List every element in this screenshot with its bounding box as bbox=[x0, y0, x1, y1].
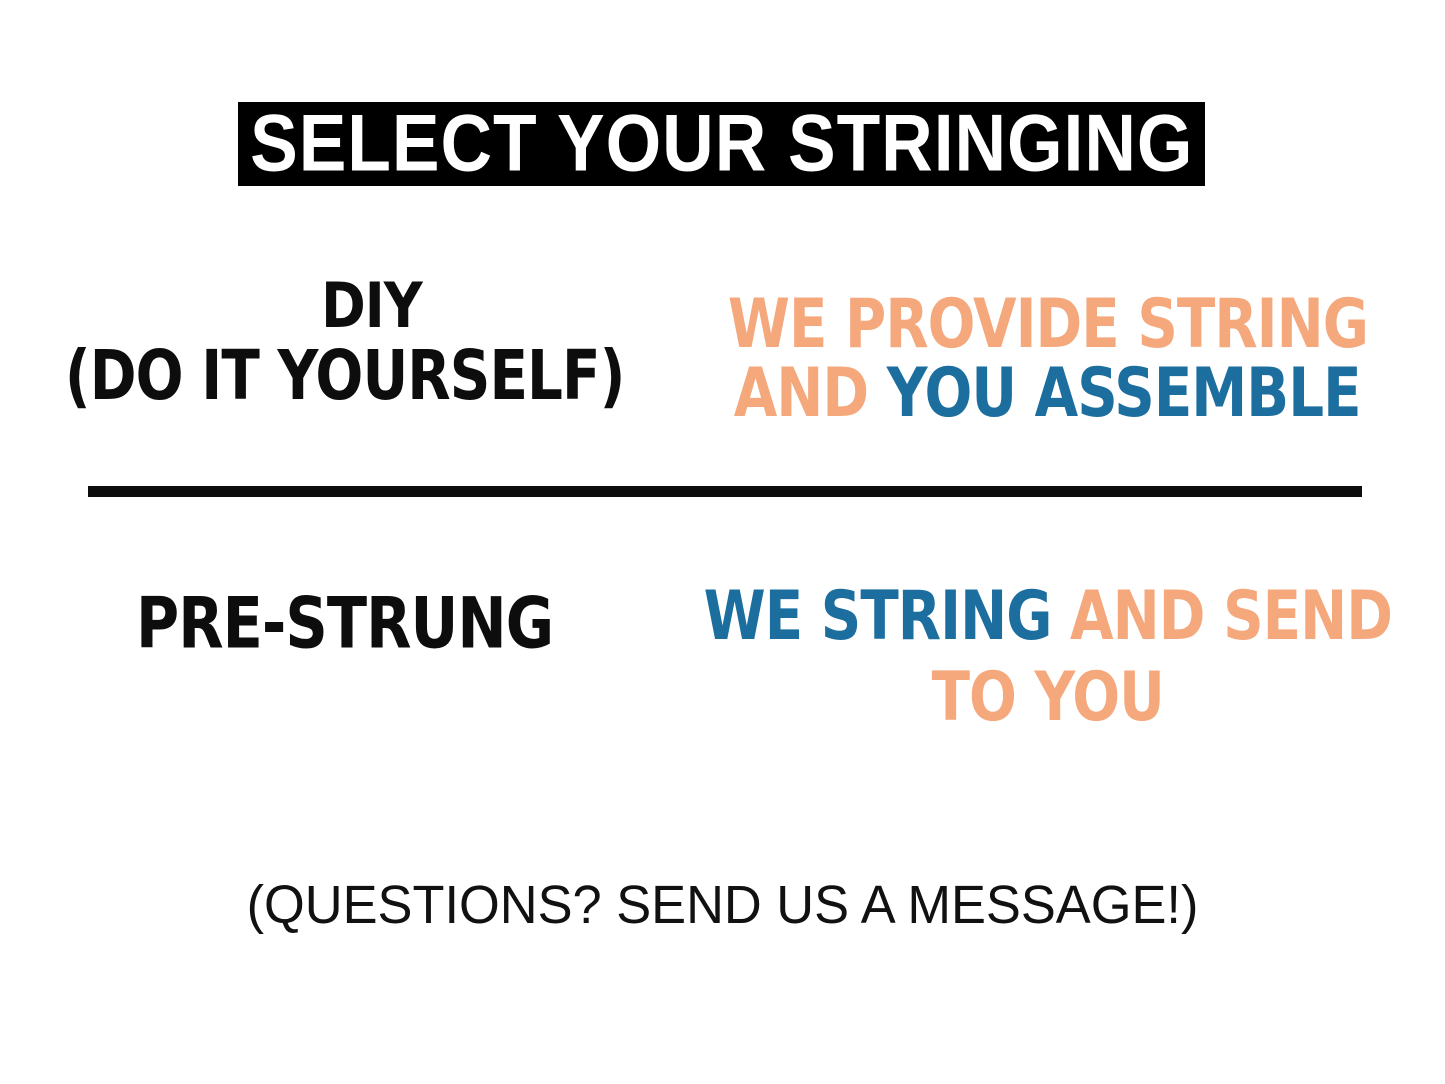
desc-segment: WE PROVIDE STRING bbox=[727, 284, 1367, 363]
option-diy-desc-line-1: WE PROVIDE STRING bbox=[727, 290, 1367, 359]
footer-note: (QUESTIONS? SEND US A MESSAGE!) bbox=[22, 874, 1424, 936]
option-diy-label-abbrev: DIY bbox=[321, 275, 422, 338]
option-prestrung-label: PRE-STRUNG bbox=[136, 588, 553, 659]
option-diy-description: WE PROVIDE STRING AND YOU ASSEMBLE bbox=[690, 282, 1445, 418]
desc-segment: AND bbox=[734, 353, 887, 432]
option-row-prestrung[interactable]: PRE-STRUNG WE STRING AND SEND TO YOU bbox=[0, 562, 1445, 732]
page-title: SELECT YOUR STRINGING bbox=[250, 104, 1193, 185]
option-prestrung-desc-line-1: WE STRING AND SEND bbox=[703, 582, 1391, 651]
desc-segment: WE STRING bbox=[703, 576, 1069, 655]
option-prestrung-description: WE STRING AND SEND TO YOU bbox=[690, 562, 1445, 722]
title-banner: SELECT YOUR STRINGING bbox=[238, 102, 1205, 186]
desc-segment: TO YOU bbox=[931, 657, 1163, 736]
option-prestrung-desc-line-2: TO YOU bbox=[931, 663, 1163, 732]
option-diy-label-group: DIY (DO IT YOURSELF) bbox=[0, 282, 690, 402]
option-prestrung-label-group: PRE-STRUNG bbox=[0, 562, 690, 650]
desc-segment: YOU ASSEMBLE bbox=[887, 353, 1361, 432]
option-row-diy[interactable]: DIY (DO IT YOURSELF) WE PROVIDE STRING A… bbox=[0, 282, 1445, 452]
option-diy-desc-line-2: AND YOU ASSEMBLE bbox=[734, 359, 1361, 428]
option-diy-label-expanded: (DO IT YOURSELF) bbox=[65, 342, 625, 410]
section-divider bbox=[88, 486, 1362, 497]
slide-canvas: SELECT YOUR STRINGING DIY (DO IT YOURSEL… bbox=[0, 0, 1445, 1084]
desc-segment: AND SEND bbox=[1070, 576, 1392, 655]
